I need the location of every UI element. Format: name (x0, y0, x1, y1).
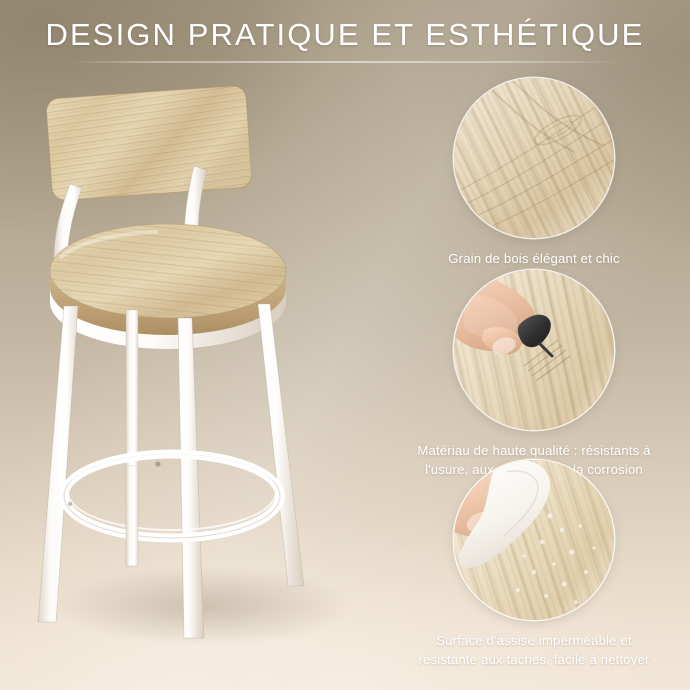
header: DESIGN PRATIQUE ET ESTHÉTIQUE (0, 16, 690, 63)
feature-item-waterproof: Surface d'assise imperméable et résistan… (378, 460, 690, 669)
stool-leg-center (126, 466, 138, 566)
feature-image-wrap (454, 460, 614, 620)
feature-list: Grain de bois élégant et chic (378, 70, 690, 680)
feature-image-wrap (454, 270, 614, 430)
stool-footrest-ring (64, 454, 280, 538)
stool-backrest (46, 85, 253, 201)
feature-item-durability: Matériau de haute qualité : résistants à… (378, 270, 690, 479)
feature-caption: Grain de bois élégant et chic (378, 249, 690, 268)
screw-detail (68, 502, 72, 506)
scratch-test-image (454, 270, 614, 430)
caption-line: Grain de bois élégant et chic (382, 249, 686, 268)
caption-line: Surface d'assise imperméable et (382, 631, 686, 650)
title-divider (67, 61, 623, 63)
screw-detail (155, 461, 160, 466)
water-wipe-image (454, 460, 614, 620)
product-photo-bar-stool (8, 66, 380, 666)
product-feature-poster: DESIGN PRATIQUE ET ESTHÉTIQUE (0, 0, 690, 690)
feature-caption: Surface d'assise imperméable et résistan… (378, 631, 690, 669)
feature-item-wood-grain: Grain de bois élégant et chic (378, 78, 690, 268)
wood-grain-closeup-image (454, 78, 614, 238)
feature-image-wrap (454, 78, 614, 238)
caption-line: résistante aux taches, facile à nettoyer (382, 650, 686, 669)
caption-line: Matériau de haute qualité : résistants à (382, 441, 686, 460)
page-title: DESIGN PRATIQUE ET ESTHÉTIQUE (0, 16, 690, 54)
